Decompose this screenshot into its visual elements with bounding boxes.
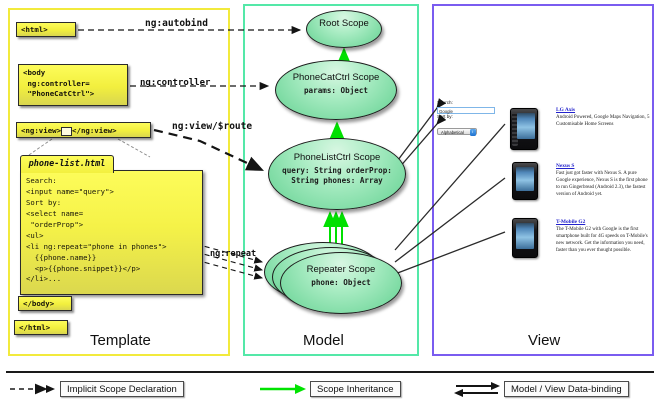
dashed-arrow-icon — [8, 381, 58, 397]
code-box-ngview[interactable]: <ng:view></ng:view> — [16, 122, 151, 138]
phone-screen — [517, 113, 535, 139]
phone-thumbnail — [510, 108, 538, 150]
double-arrow-icon — [452, 381, 502, 397]
phone-list-item[interactable]: T-Mobile G2 The T-Mobile G2 with Google … — [556, 219, 652, 255]
ngview-open-tag: <ng:view> — [21, 126, 61, 135]
phone-name-link[interactable]: LG Axis — [556, 107, 652, 113]
ngview-close-tag: </ng:view> — [72, 126, 117, 135]
search-input[interactable]: Google — [437, 107, 495, 114]
sort-select[interactable]: Alphabetical↕ — [437, 128, 477, 136]
panel-label-view: View — [528, 332, 560, 349]
scope-phonecatctrl-props: params: Object — [276, 86, 396, 96]
scope-repeater[interactable]: Repeater Scope phone: Object — [280, 252, 402, 314]
connector-label-ngview-route: ng:view/$route — [172, 121, 252, 132]
scope-root-title: Root Scope — [307, 18, 381, 29]
legend-label: Scope Inheritance — [310, 381, 401, 397]
template-note-phone-list[interactable]: phone-list.html Search: <input name="que… — [20, 155, 192, 290]
search-label: Search: — [437, 100, 499, 107]
code-box-body-close[interactable]: </body> — [18, 296, 72, 311]
legend-item-implicit-scope: Implicit Scope Declaration — [8, 381, 58, 398]
chevron-down-icon: ↕ — [470, 129, 476, 136]
scope-phonelistctrl[interactable]: PhoneListCtrl Scope query: String orderP… — [268, 138, 406, 210]
phone-list-item[interactable]: LG Axis Android Powered, Google Maps Nav… — [556, 107, 652, 129]
code-box-body-open[interactable]: <body ng:controller= "PhoneCatCtrl"> — [18, 64, 128, 106]
scope-root[interactable]: Root Scope — [306, 10, 382, 48]
note-code: Search: <input name="query"> Sort by: <s… — [20, 170, 203, 295]
phone-snippet: Fast just got faster with Nexus S. A pur… — [556, 171, 652, 199]
scope-phonecatctrl-title: PhoneCatCtrl Scope — [276, 72, 396, 83]
legend-divider — [6, 371, 654, 373]
phone-snippet: The T-Mobile G2 with Google is the first… — [556, 227, 652, 255]
ngview-placeholder-icon — [61, 127, 72, 136]
scope-repeater-props: phone: Object — [281, 278, 401, 288]
note-title: phone-list.html — [20, 155, 114, 173]
sort-select-value: Alphabetical — [441, 130, 464, 135]
connector-label-controller: ng:controller — [140, 78, 210, 88]
scope-phonecatctrl[interactable]: PhoneCatCtrl Scope params: Object — [275, 60, 397, 120]
scope-phonelistctrl-title: PhoneListCtrl Scope — [269, 152, 405, 163]
scope-repeater-title: Repeater Scope — [281, 264, 401, 275]
code-box-html-close[interactable]: </html> — [14, 320, 68, 335]
phone-snippet: Android Powered, Google Maps Navigation,… — [556, 115, 652, 129]
legend-label: Implicit Scope Declaration — [60, 381, 184, 397]
panel-label-model: Model — [303, 332, 344, 349]
code-box-html-open[interactable]: <html> — [16, 22, 76, 37]
green-arrow-icon — [258, 381, 308, 397]
sort-label: Sort by: — [437, 114, 499, 121]
phone-screen — [516, 167, 534, 191]
phone-thumbnail — [512, 162, 538, 200]
legend-item-scope-inheritance: Scope Inheritance — [258, 381, 308, 398]
phone-name-link[interactable]: Nexus S — [556, 163, 652, 169]
phone-thumbnail — [512, 218, 538, 258]
connector-label-autobind: ng:autobind — [145, 18, 208, 29]
legend-label: Model / View Data-binding — [504, 381, 629, 397]
phone-list-item[interactable]: Nexus S Fast just got faster with Nexus … — [556, 163, 652, 199]
phone-screen — [516, 223, 534, 249]
connector-label-ngrepeat: ng:repeat — [210, 249, 256, 259]
diagram-canvas: <html> <body ng:controller= "PhoneCatCtr… — [0, 0, 660, 405]
phone-name-link[interactable]: T-Mobile G2 — [556, 219, 652, 225]
legend-item-data-binding: Model / View Data-binding — [452, 381, 502, 398]
scope-phonelistctrl-props: query: String orderProp: String phones: … — [269, 166, 405, 186]
panel-label-template: Template — [90, 332, 151, 349]
view-search-form: Search: Google Sort by: Alphabetical↕ — [437, 100, 499, 139]
